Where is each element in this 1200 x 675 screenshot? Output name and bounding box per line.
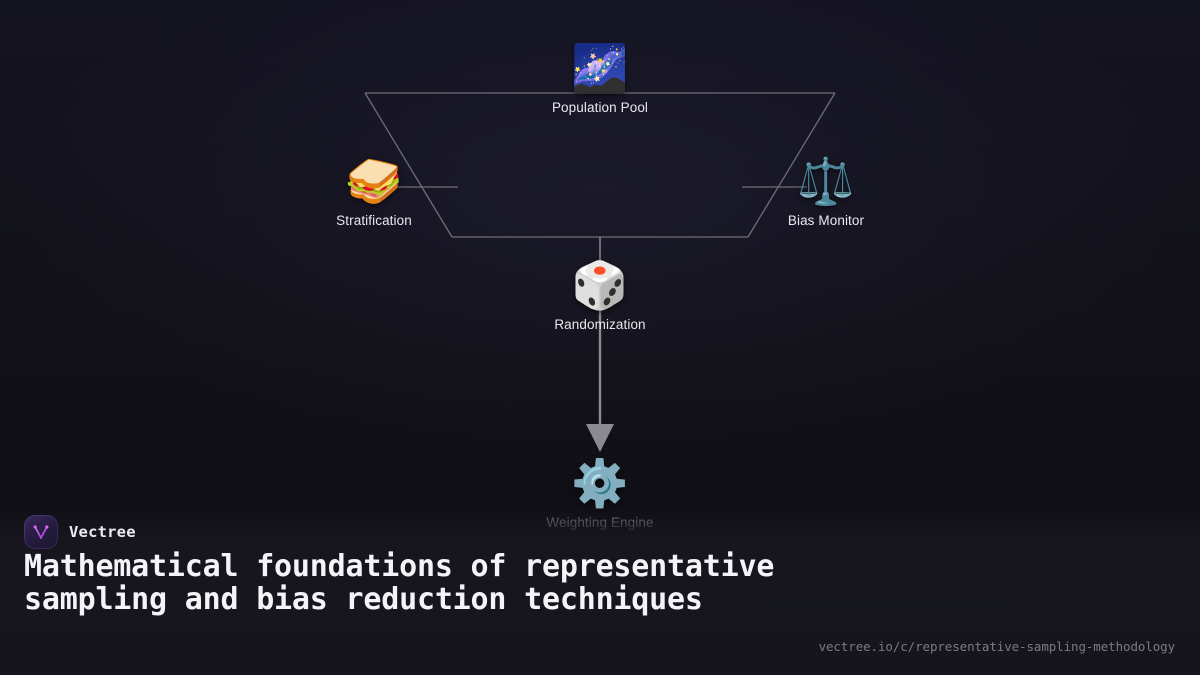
footer-band: Vectree Mathematical foundations of repr… — [0, 507, 1200, 675]
node-label-stratification: Stratification — [264, 213, 484, 228]
arrowhead-icon — [586, 424, 614, 452]
gear-icon: ⚙️ — [490, 455, 710, 511]
screenshot-canvas: 🌌 Population Pool 🥪 Stratification ⚖️ Bi… — [0, 0, 1200, 675]
page-title: Mathematical foundations of representati… — [24, 551, 784, 616]
diagram-node-population-pool[interactable]: 🌌 Population Pool — [490, 40, 710, 115]
node-label-randomization: Randomization — [490, 317, 710, 332]
node-label-population-pool: Population Pool — [490, 100, 710, 115]
vectree-logo-icon — [24, 515, 58, 549]
diagram-node-randomization[interactable]: 🎲 Randomization — [490, 257, 710, 332]
milky-way-icon: 🌌 — [490, 40, 710, 96]
node-label-bias-monitor: Bias Monitor — [716, 213, 936, 228]
game-die-icon: 🎲 — [490, 257, 710, 313]
balance-scale-icon: ⚖️ — [716, 153, 936, 209]
sandwich-icon: 🥪 — [264, 153, 484, 209]
brand[interactable]: Vectree — [24, 515, 136, 549]
brand-name: Vectree — [69, 523, 136, 541]
diagram-node-bias-monitor[interactable]: ⚖️ Bias Monitor — [716, 153, 936, 228]
diagram-node-stratification[interactable]: 🥪 Stratification — [264, 153, 484, 228]
page-url: vectree.io/c/representative-sampling-met… — [819, 639, 1175, 654]
